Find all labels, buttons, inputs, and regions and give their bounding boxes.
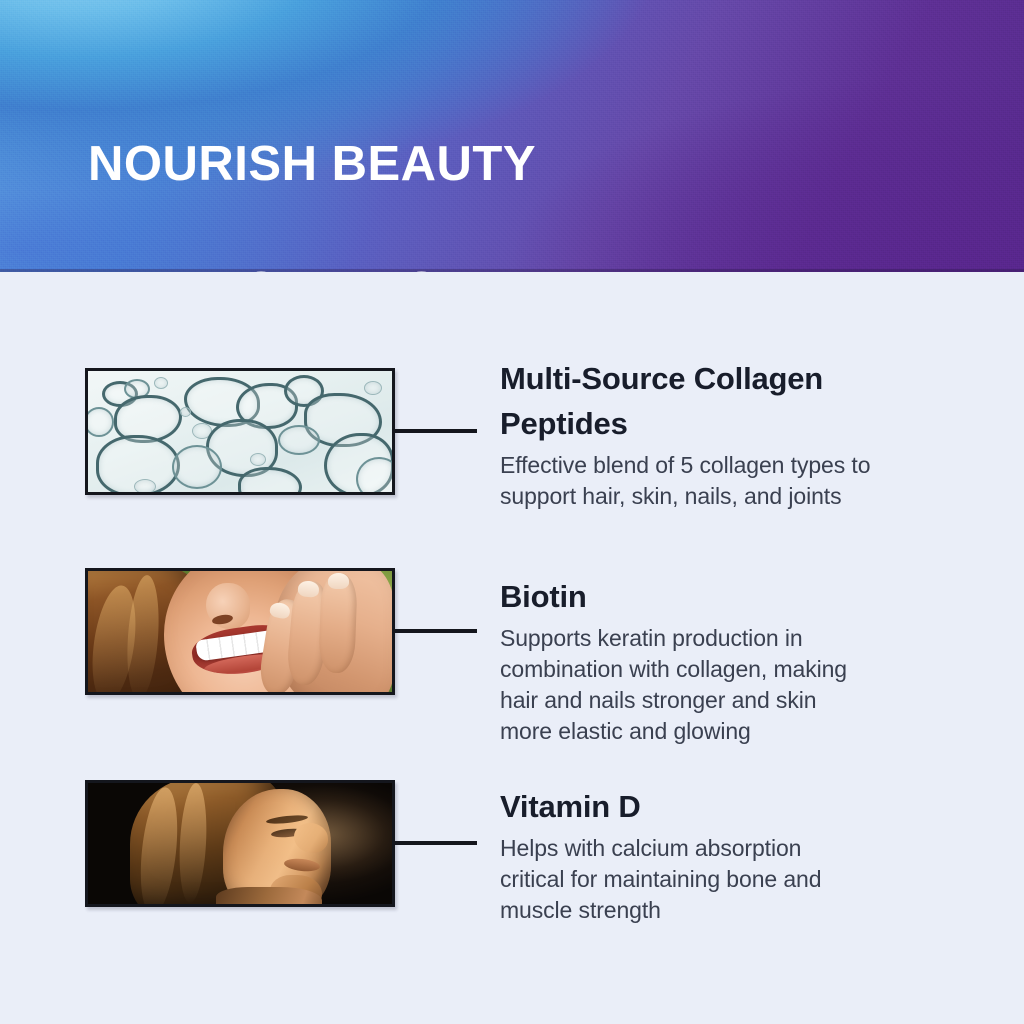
feature-thumbnail-collagen: [85, 368, 395, 495]
connector-line: [395, 429, 477, 433]
header-banner: NOURISH BEAUTY AND YOUR BODY: [0, 0, 1024, 272]
feature-text-block: Vitamin D Helps with calcium absorption …: [500, 784, 970, 926]
feature-title: Vitamin D: [500, 784, 970, 829]
water-bubbles-photo: [88, 371, 392, 492]
feature-description: Supports keratin production in combinati…: [500, 623, 970, 747]
connector-line: [395, 629, 477, 633]
sunlight-glow: [88, 783, 392, 904]
thumbnail-frame: [85, 568, 395, 695]
feature-description: Effective blend of 5 collagen types to s…: [500, 450, 970, 512]
woman-profile-sunlight-photo: [88, 783, 392, 904]
feature-title: Biotin: [500, 574, 970, 619]
smiling-woman-photo: [88, 571, 392, 692]
feature-description: Helps with calcium absorption critical f…: [500, 833, 970, 926]
feature-thumbnail-vitamind: [85, 780, 395, 907]
connector-line: [395, 841, 477, 845]
thumbnail-frame: [85, 780, 395, 907]
feature-text-block: Biotin Supports keratin production in co…: [500, 574, 970, 747]
banner-headline-line-1: NOURISH BEAUTY: [88, 133, 536, 196]
thumbnail-frame: [85, 368, 395, 495]
infographic-page: NOURISH BEAUTY AND YOUR BODY: [0, 0, 1024, 1024]
banner-headline: NOURISH BEAUTY AND YOUR BODY: [88, 70, 536, 272]
banner-headline-line-2: AND YOUR BODY: [88, 259, 536, 272]
feature-title: Multi-Source Collagen Peptides: [500, 356, 970, 446]
feature-thumbnail-biotin: [85, 568, 395, 695]
feature-text-block: Multi-Source Collagen Peptides Effective…: [500, 356, 970, 512]
